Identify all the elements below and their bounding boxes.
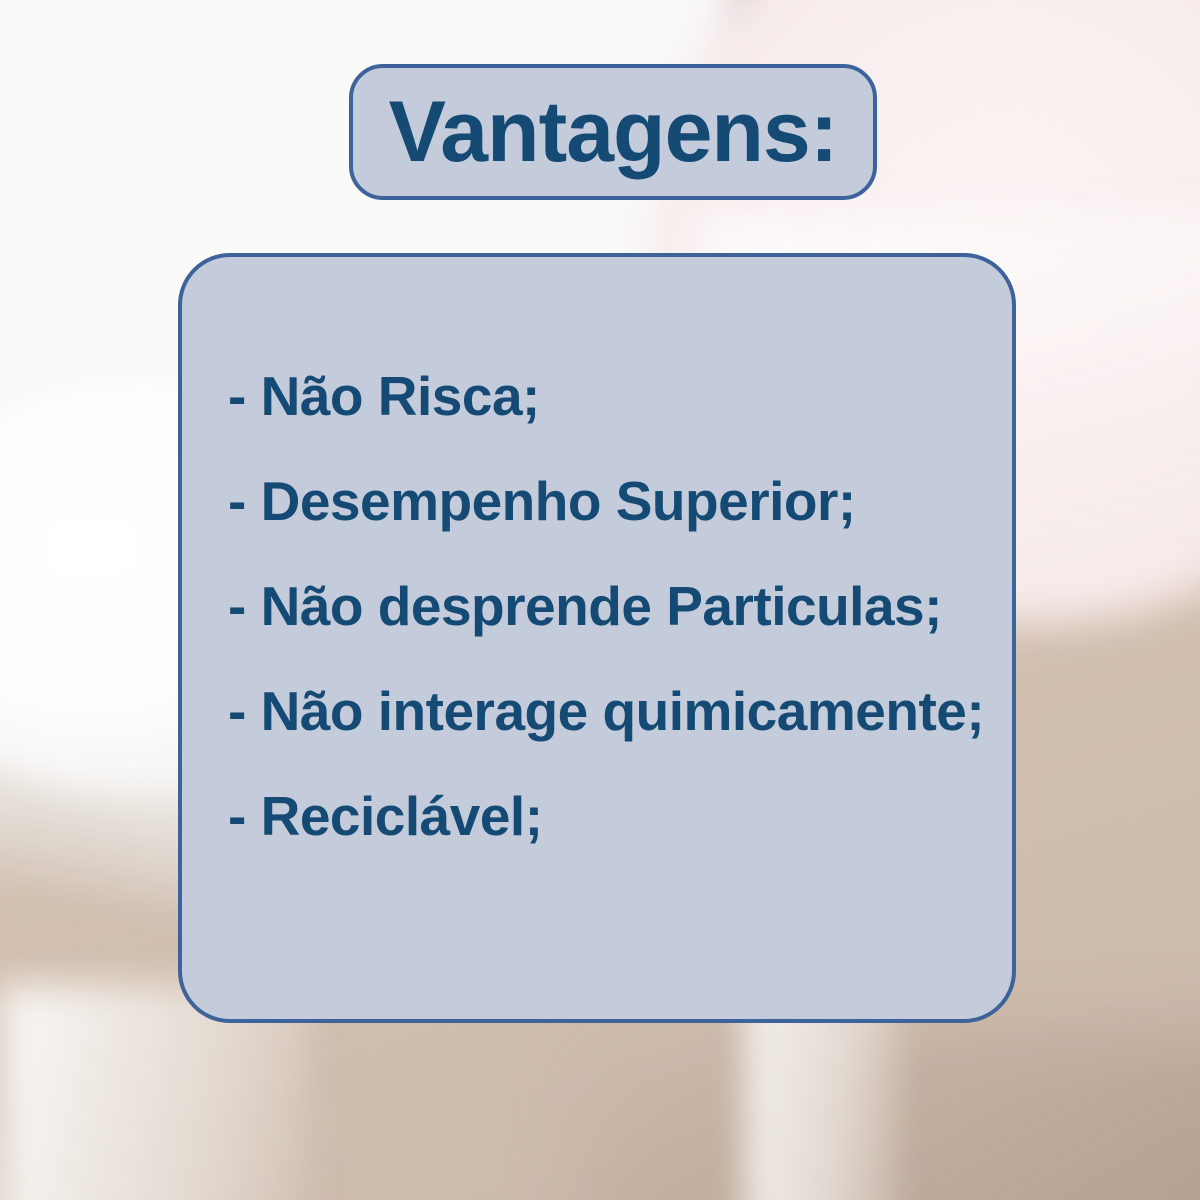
list-item: - Não interage quimicamente; [228,684,988,739]
list-item: - Reciclável; [228,789,988,844]
page-title: Vantagens: [389,89,838,175]
title-box: Vantagens: [349,64,877,200]
list-item: - Não desprende Particulas; [228,579,988,634]
advantages-list: - Não Risca; - Desempenho Superior; - Nã… [228,369,988,844]
list-item: - Não Risca; [228,369,988,424]
poster-root: Vantagens: - Não Risca; - Desempenho Sup… [0,0,1200,1200]
advantages-card: - Não Risca; - Desempenho Superior; - Nã… [178,253,1016,1023]
list-item: - Desempenho Superior; [228,474,988,529]
